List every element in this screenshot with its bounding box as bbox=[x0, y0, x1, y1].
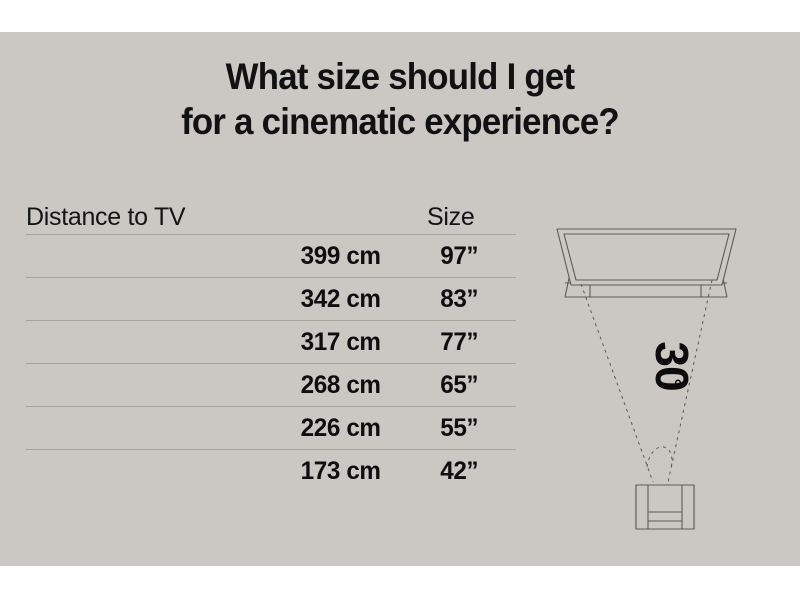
table-header-row: Distance to TV Size bbox=[26, 192, 516, 234]
sofa-icon bbox=[636, 485, 694, 529]
column-header-distance: Distance to TV bbox=[26, 203, 427, 232]
page-title: What size should I get for a cinematic e… bbox=[0, 54, 800, 144]
table-row: 268 cm 65” bbox=[26, 363, 516, 406]
cell-size: 77” bbox=[388, 328, 514, 357]
cell-size: 83” bbox=[388, 285, 514, 314]
cell-size: 55” bbox=[388, 414, 514, 443]
tv-screen-icon bbox=[557, 229, 736, 285]
viewing-angle-diagram bbox=[535, 217, 800, 547]
table-row: 173 cm 42” bbox=[26, 449, 516, 492]
title-line-1: What size should I get bbox=[24, 54, 776, 99]
infographic-panel: What size should I get for a cinematic e… bbox=[0, 32, 800, 566]
angle-arc-icon bbox=[647, 447, 672, 468]
cell-distance: 399 cm bbox=[31, 242, 380, 271]
cell-distance: 268 cm bbox=[31, 371, 380, 400]
cell-size: 65” bbox=[388, 371, 514, 400]
dashed-sight-lines-icon bbox=[581, 280, 712, 482]
table-row: 342 cm 83” bbox=[26, 277, 516, 320]
cell-distance: 173 cm bbox=[31, 457, 380, 486]
column-header-size: Size bbox=[427, 203, 516, 232]
table-row: 399 cm 97” bbox=[26, 234, 516, 277]
size-table: Distance to TV Size 399 cm 97” 342 cm 83… bbox=[26, 192, 516, 492]
table-row: 226 cm 55” bbox=[26, 406, 516, 449]
cell-distance: 342 cm bbox=[31, 285, 380, 314]
title-line-2: for a cinematic experience? bbox=[24, 99, 776, 144]
table-row: 317 cm 77” bbox=[26, 320, 516, 363]
cell-size: 42” bbox=[388, 457, 514, 486]
cell-distance: 317 cm bbox=[31, 328, 380, 357]
cell-distance: 226 cm bbox=[31, 414, 380, 443]
cell-size: 97” bbox=[388, 242, 514, 271]
